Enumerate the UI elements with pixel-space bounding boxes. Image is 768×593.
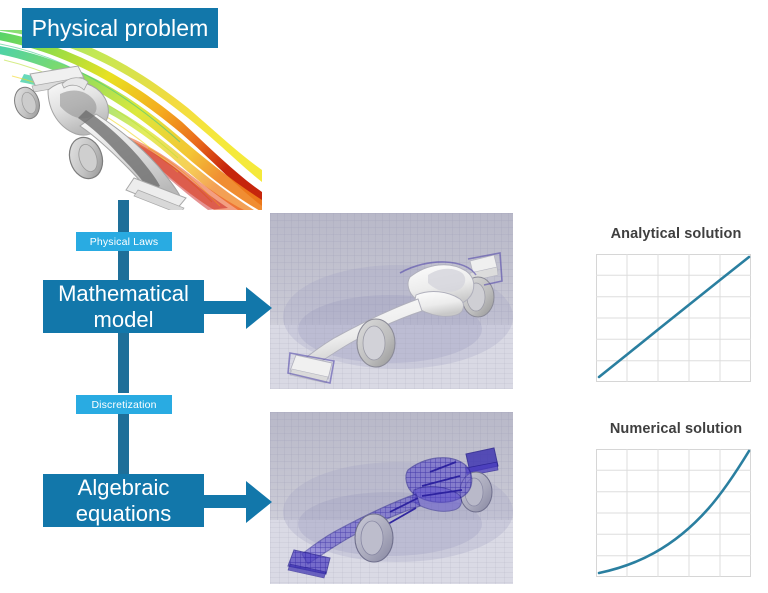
diagram-canvas: Physical problem Physical Laws Discretiz… <box>0 0 768 593</box>
mathematical-model-label-line2: model <box>94 307 154 332</box>
numerical-solution-title: Numerical solution <box>596 421 756 437</box>
arrow-shaft <box>200 495 248 508</box>
algebraic-equations-label-line1: Algebraic <box>78 475 170 500</box>
connector-discretization-to-equations <box>118 412 129 474</box>
arrow-equations-to-mesh <box>200 481 272 523</box>
arrow-head <box>246 481 272 523</box>
physical-problem-box: Physical problem <box>22 8 218 48</box>
f1-car-volume-mesh-image <box>270 213 513 389</box>
connector-laws-to-model <box>118 248 129 282</box>
algebraic-equations-label-line2: equations <box>76 501 171 526</box>
analytical-solution-plot: Analytical solution <box>596 226 756 388</box>
mathematical-model-label-line1: Mathematical <box>58 281 189 306</box>
arrow-head <box>246 287 272 329</box>
f1-car-discretized-mesh-image <box>270 412 513 584</box>
f1-car-cfd-streamlines-image <box>0 30 262 210</box>
physical-laws-tag: Physical Laws <box>76 232 172 251</box>
connector-problem-to-laws <box>118 200 129 236</box>
physical-problem-label: Physical problem <box>32 15 209 41</box>
analytical-solution-title: Analytical solution <box>596 226 756 242</box>
arrow-model-to-mesh <box>200 287 272 329</box>
numerical-solution-canvas <box>596 449 751 577</box>
algebraic-equations-box: Algebraic equations <box>43 474 204 527</box>
arrow-shaft <box>200 301 248 314</box>
mathematical-model-box: Mathematical model <box>43 280 204 333</box>
discretization-tag: Discretization <box>76 395 172 414</box>
analytical-solution-canvas <box>596 254 751 382</box>
numerical-solution-plot: Numerical solution <box>596 421 756 583</box>
connector-model-to-discretization <box>118 331 129 393</box>
physical-laws-label: Physical Laws <box>90 236 158 248</box>
discretization-label: Discretization <box>91 399 156 411</box>
